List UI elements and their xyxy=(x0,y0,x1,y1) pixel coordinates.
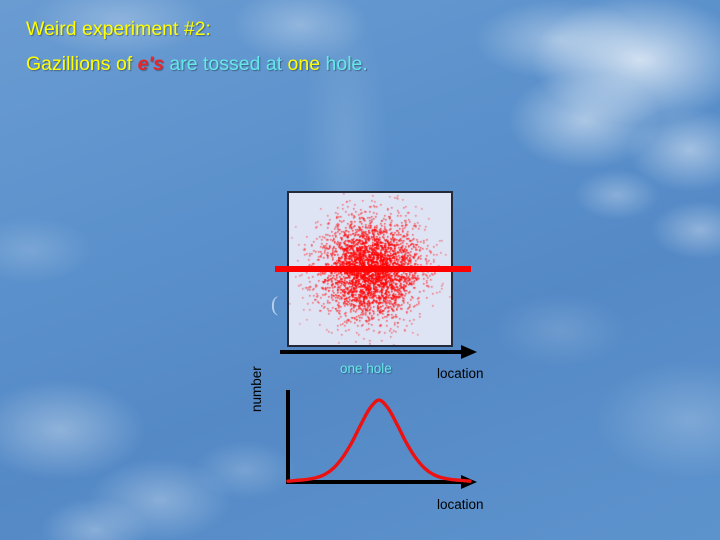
beam-line xyxy=(275,266,471,272)
subtitle-part-tossed: are tossed at xyxy=(164,53,288,75)
curve-xlabel: location xyxy=(437,497,484,512)
gaussian-curve-svg xyxy=(280,386,480,488)
scatter-xlabel: location xyxy=(437,366,484,381)
scatter-x-axis xyxy=(280,350,462,354)
hole-aperture-glyph: ( xyxy=(271,292,278,317)
subtitle-part-gazillions: Gazillions of xyxy=(26,53,138,75)
page-title: Weird experiment #2: xyxy=(26,20,686,40)
subtitle-part-electrons: e's xyxy=(138,53,164,75)
curve-ylabel: number xyxy=(249,366,264,412)
subtitle-line: Gazillions of e's are tossed at one hole… xyxy=(26,55,686,75)
scatter-x-axis-arrow-icon xyxy=(461,345,477,359)
one-hole-label: one hole xyxy=(340,361,392,376)
slide-canvas: Weird experiment #2: Gazillions of e's a… xyxy=(0,0,720,540)
title-block: Weird experiment #2: Gazillions of e's a… xyxy=(26,20,686,89)
gaussian-curve-path xyxy=(288,400,470,481)
subtitle-part-hole: hole. xyxy=(320,53,368,75)
subtitle-part-one: one xyxy=(288,53,321,75)
